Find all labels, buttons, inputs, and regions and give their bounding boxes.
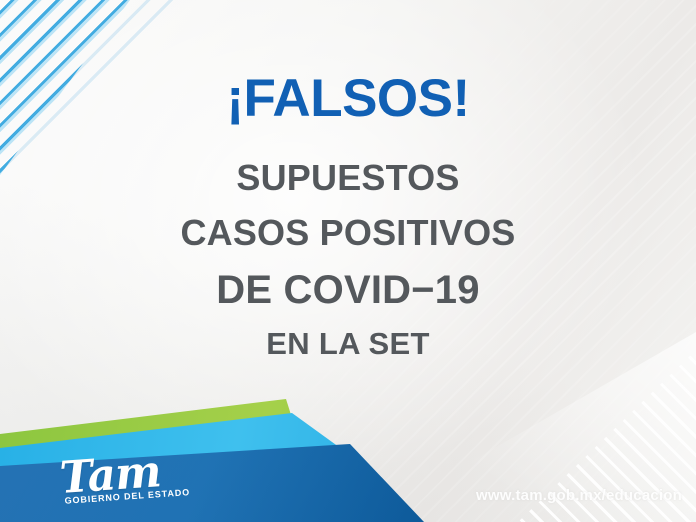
headline-line-4: EN LA SET	[0, 328, 696, 361]
page-title: ¡FALSOS!	[0, 72, 696, 125]
headline-line-1: SUPUESTOS	[0, 159, 696, 197]
tam-logo: Tam GOBIERNO DEL ESTADO	[59, 450, 191, 506]
headline-line-2: CASOS POSITIVOS	[0, 214, 696, 252]
headline-block: ¡FALSOS! SUPUESTOS CASOS POSITIVOS DE CO…	[0, 72, 696, 361]
poster-canvas: ¡FALSOS! SUPUESTOS CASOS POSITIVOS DE CO…	[0, 0, 696, 522]
website-url: www.tam.gob.mx/educacion	[476, 487, 682, 504]
headline-line-3: DE COVID−19	[0, 269, 696, 311]
